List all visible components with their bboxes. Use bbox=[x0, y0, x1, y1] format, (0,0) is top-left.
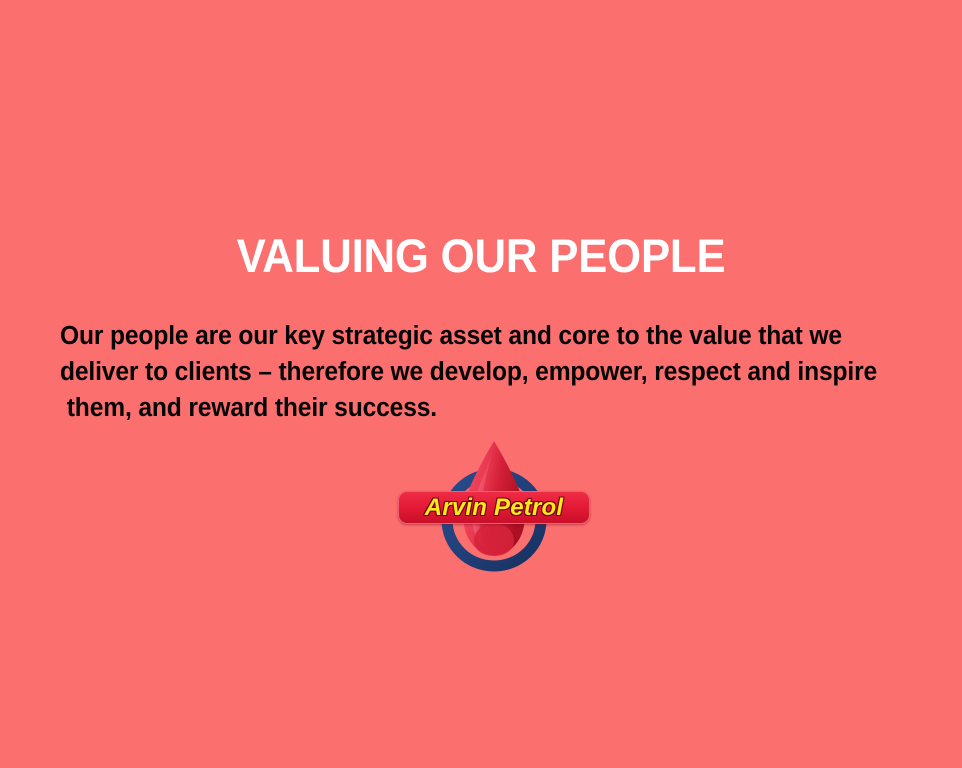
body-line-1: Our people are our key strategic asset a… bbox=[60, 318, 871, 354]
body-paragraph: Our people are our key strategic asset a… bbox=[60, 318, 871, 426]
body-line-2: deliver to clients – therefore we develo… bbox=[60, 354, 871, 390]
logo-banner: Arvin Petrol bbox=[398, 491, 590, 524]
slide-canvas: VALUING OUR PEOPLE Our people are our ke… bbox=[0, 0, 962, 768]
logo-wordmark-text: Arvin Petrol bbox=[425, 496, 563, 520]
body-line-3: them, and reward their success. bbox=[60, 390, 871, 426]
page-title: VALUING OUR PEOPLE bbox=[34, 228, 929, 284]
arvin-petrol-logo: Arvin Petrol bbox=[424, 437, 564, 572]
